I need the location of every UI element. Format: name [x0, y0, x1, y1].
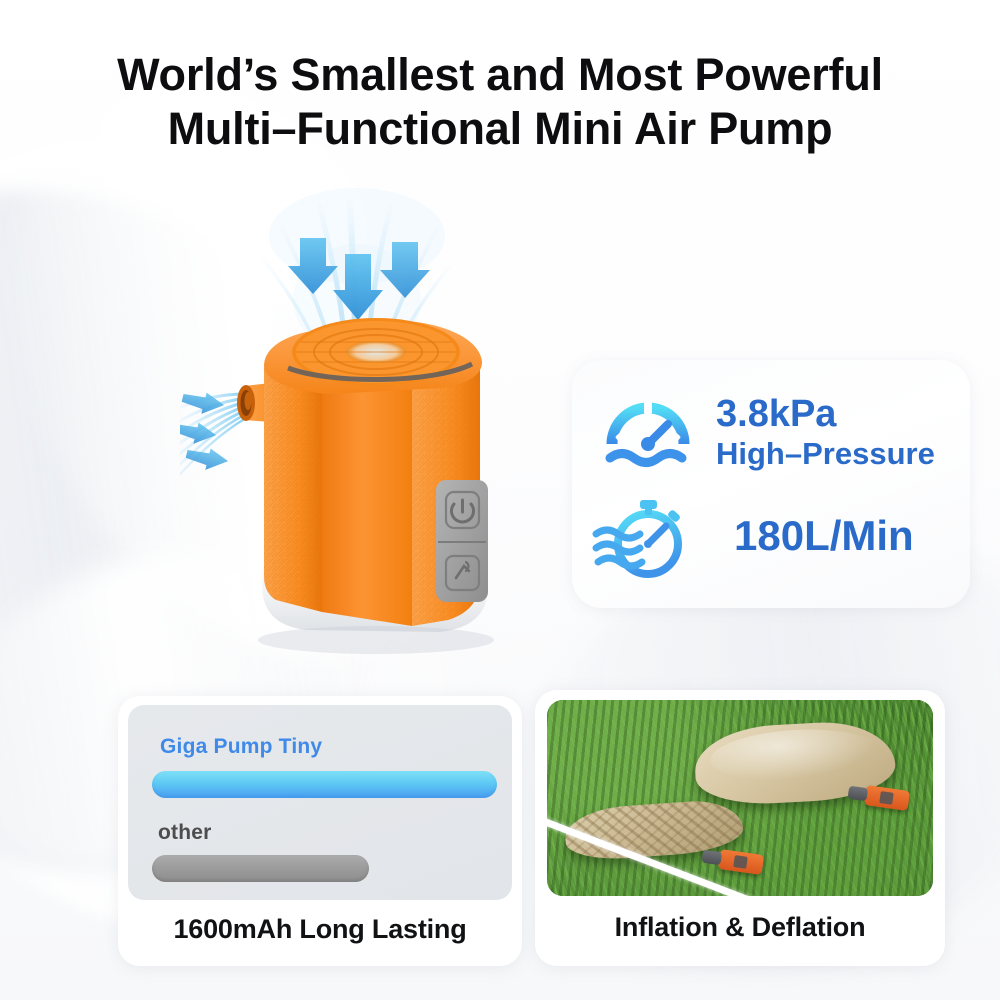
spec-row-flow: 180L/Min: [592, 486, 914, 586]
headline-line-2: Multi–Functional Mini Air Pump: [0, 102, 1000, 156]
spec-text-flow: 180L/Min: [710, 513, 914, 558]
battery-chart-panel: Giga Pump Tiny other: [128, 705, 512, 900]
product-feature-banner: World’s Smallest and Most Powerful Multi…: [0, 0, 1000, 1000]
battery-comparison-card: Giga Pump Tiny other 1600mAh Long Lastin…: [118, 696, 522, 966]
product-image-mini-air-pump: [180, 180, 540, 680]
spec-card: 3.8kPa High–Pressure: [572, 360, 970, 608]
spec-row-pressure: 3.8kPa High–Pressure: [598, 382, 935, 482]
pressure-gauge-icon: [598, 382, 698, 482]
bar-label-other: other: [158, 821, 212, 845]
stopwatch-waves-icon: [592, 486, 692, 586]
air-outflow-streams: [180, 394, 246, 498]
bar-other: [152, 855, 369, 882]
air-outflow-arrow-icons: [180, 387, 230, 475]
spec-label-pressure: High–Pressure: [716, 437, 935, 470]
inflation-deflation-card: Inflation & Deflation: [535, 690, 945, 966]
bar-label-giga-pump: Giga Pump Tiny: [160, 735, 322, 759]
battery-card-caption: 1600mAh Long Lasting: [118, 914, 522, 945]
spec-text-pressure: 3.8kPa High–Pressure: [716, 394, 935, 471]
page-title: World’s Smallest and Most Powerful Multi…: [0, 48, 1000, 156]
pillow-photo: [547, 700, 933, 896]
spec-value-pressure: 3.8kPa: [716, 394, 935, 435]
photo-card-caption: Inflation & Deflation: [535, 912, 945, 943]
bar-giga-pump: [152, 771, 497, 798]
spec-value-flow: 180L/Min: [734, 513, 914, 558]
pump-control-panel: [436, 480, 488, 602]
headline-line-1: World’s Smallest and Most Powerful: [0, 48, 1000, 102]
